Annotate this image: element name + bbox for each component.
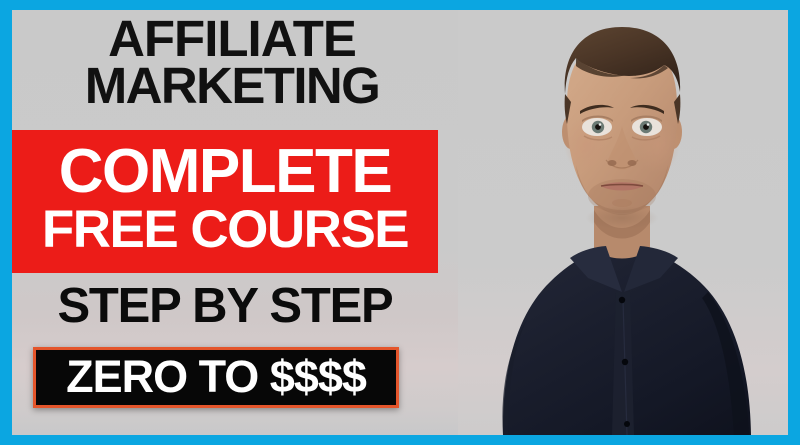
headline-line-1: AFFILIATE: [12, 14, 452, 63]
red-banner-secondary-text: FREE COURSE: [42, 203, 408, 256]
presenter-illustration: [458, 10, 788, 435]
thumbnail-canvas: AFFILIATE MARKETING COMPLETE FREE COURSE…: [12, 10, 788, 435]
video-thumbnail: AFFILIATE MARKETING COMPLETE FREE COURSE…: [0, 0, 800, 445]
red-banner-primary-text: COMPLETE: [59, 143, 391, 202]
presenter-photo: [458, 10, 788, 435]
headline-line-2: MARKETING: [12, 61, 452, 110]
shirt-button: [624, 421, 630, 427]
step-by-step-text: STEP BY STEP: [12, 282, 438, 331]
red-banner: COMPLETE FREE COURSE: [12, 130, 438, 273]
shirt-button: [619, 297, 625, 303]
headline: AFFILIATE MARKETING: [12, 14, 452, 111]
zero-to-dollars-badge: ZERO TO $$$$: [33, 347, 399, 408]
shirt-button: [622, 359, 628, 365]
zero-to-dollars-text: ZERO TO $$$$: [66, 354, 366, 402]
